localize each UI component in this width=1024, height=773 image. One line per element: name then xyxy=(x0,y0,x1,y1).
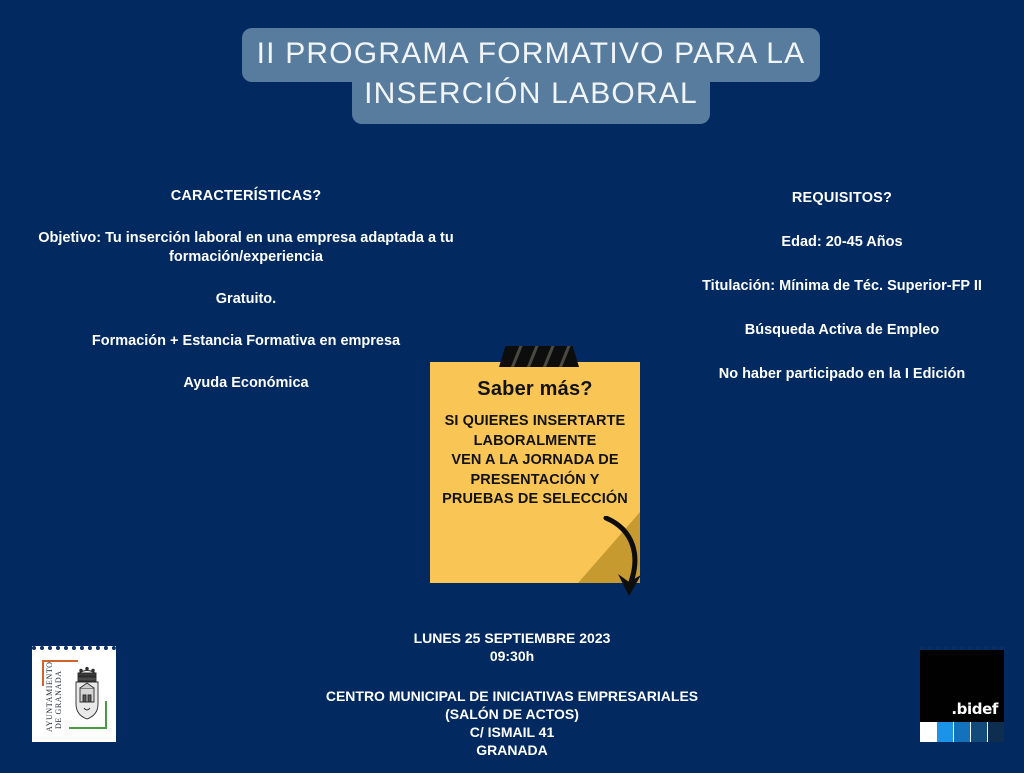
characteristics-column: CARACTERÍSTICAS? Objetivo: Tu inserción … xyxy=(10,180,482,393)
bidef-swatch-3 xyxy=(954,722,971,742)
bidef-wordmark: .bidef xyxy=(951,700,998,718)
sticky-note-line-3: VEN A LA JORNADA DE xyxy=(430,451,640,471)
requirements-item-1: Edad: 20-45 Años xyxy=(660,233,1024,252)
requirements-item-2: Titulación: Mínima de Téc. Superior-FP I… xyxy=(660,277,1024,296)
bidef-swatch-5 xyxy=(988,722,1004,742)
ayuntamiento-granada-logo: AYUNTAMIENTO DE GRANADA xyxy=(32,646,116,742)
bidef-swatch-2 xyxy=(937,722,954,742)
venue-place: CENTRO MUNICIPAL DE INICIATIVAS EMPRESAR… xyxy=(262,687,762,705)
ayuntamiento-line-1: AYUNTAMIENTO xyxy=(45,661,54,732)
sticky-note-heading: Saber más? xyxy=(430,362,640,401)
sticky-note-lines: SI QUIERES INSERTARTE LABORALMENTE VEN A… xyxy=(430,401,640,510)
requirements-item-4: No haber participado en la I Edición xyxy=(660,365,1024,384)
event-date: LUNES 25 SEPTIEMBRE 2023 xyxy=(262,629,762,647)
bidef-logo-field: .bidef xyxy=(920,650,1004,722)
title-text: II PROGRAMA FORMATIVO PARA LA INSERCIÓN … xyxy=(242,28,820,114)
sticky-note-content: Saber más? SI QUIERES INSERTARTE LABORAL… xyxy=(430,362,640,510)
characteristics-item-2: Gratuito. xyxy=(10,290,482,309)
granada-coat-of-arms-icon xyxy=(70,664,104,726)
characteristics-item-4: Ayuda Económica xyxy=(10,374,482,393)
ayuntamiento-granada-wordmark: AYUNTAMIENTO DE GRANADA xyxy=(45,668,65,732)
event-address: CENTRO MUNICIPAL DE INICIATIVAS EMPRESAR… xyxy=(262,687,762,759)
characteristics-heading: CARACTERÍSTICAS? xyxy=(10,180,482,206)
venue-street: C/ ISMAIL 41 xyxy=(262,723,762,741)
characteristics-item-3: Formación + Estancia Formativa en empres… xyxy=(10,332,482,351)
bidef-swatch-1 xyxy=(920,722,937,742)
characteristics-item-1: Objetivo: Tu inserción laboral en una em… xyxy=(10,229,482,267)
title-line-1: II PROGRAMA FORMATIVO PARA LA xyxy=(257,37,806,70)
sticky-note-line-4: PRESENTACIÓN Y xyxy=(430,471,640,491)
bidef-swatch-4 xyxy=(971,722,988,742)
venue-block: LUNES 25 SEPTIEMBRE 2023 09:30h CENTRO M… xyxy=(262,615,762,773)
ayuntamiento-line-2: DE GRANADA xyxy=(54,671,63,730)
bidef-color-strip xyxy=(920,722,1004,742)
sticky-note-line-2: LABORALMENTE xyxy=(430,432,640,452)
event-time: 09:30h xyxy=(262,647,762,665)
title-line-2: INSERCIÓN LABORAL xyxy=(242,74,820,114)
poster-title: II PROGRAMA FORMATIVO PARA LA INSERCIÓN … xyxy=(0,28,1024,124)
sticky-note-line-5: PRUEBAS DE SELECCIÓN xyxy=(430,490,640,510)
poster-canvas: II PROGRAMA FORMATIVO PARA LA INSERCIÓN … xyxy=(0,0,1024,768)
curved-arrow-icon xyxy=(600,516,660,600)
venue-city: GRANADA xyxy=(262,741,762,759)
requirements-column: REQUISITOS? Edad: 20-45 Años Titulación:… xyxy=(660,180,1024,384)
requirements-item-3: Búsqueda Activa de Empleo xyxy=(660,321,1024,340)
event-datetime: LUNES 25 SEPTIEMBRE 2023 09:30h xyxy=(262,629,762,665)
sticky-note-line-1: SI QUIERES INSERTARTE xyxy=(430,412,640,432)
requirements-heading: REQUISITOS? xyxy=(660,180,1024,208)
bidef-logo: .bidef xyxy=(920,646,1004,742)
venue-room: (SALÓN DE ACTOS) xyxy=(262,705,762,723)
